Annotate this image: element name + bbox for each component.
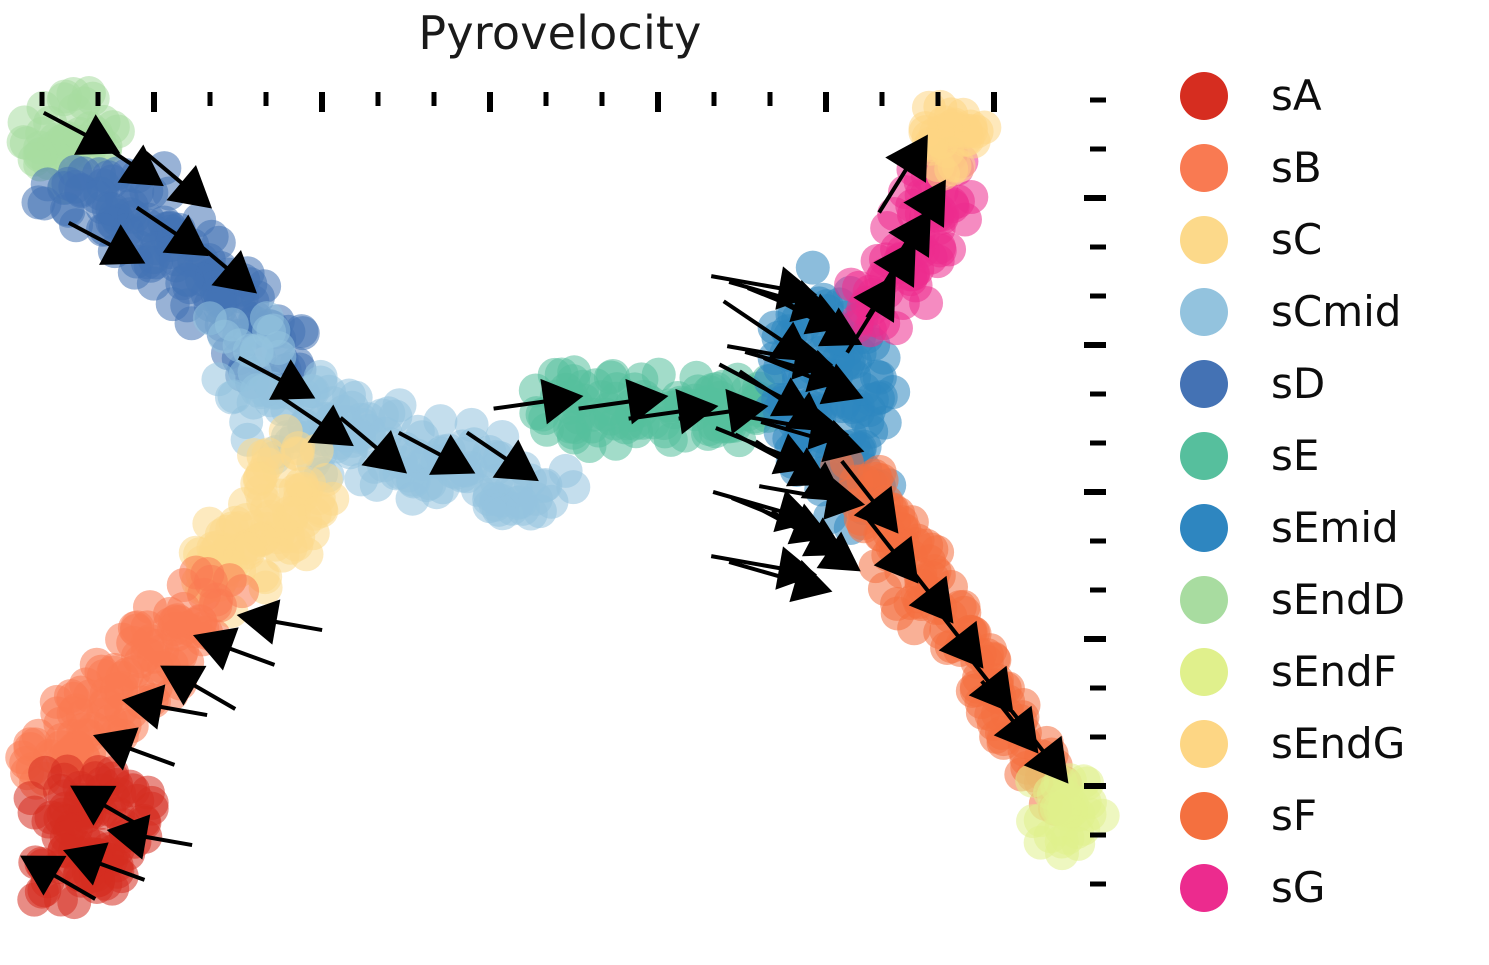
legend-color-swatch-sEndD	[1180, 576, 1228, 624]
legend-color-swatch-sE	[1180, 432, 1228, 480]
legend-color-swatch-sG	[1180, 864, 1228, 912]
legend-color-swatch-sEndG	[1180, 720, 1228, 768]
legend-label: sCmid	[1271, 291, 1401, 333]
axis-ticks	[0, 0, 1120, 965]
legend-item-sEndD[interactable]: sEndD	[1168, 564, 1489, 636]
legend-label: sEndG	[1271, 723, 1405, 765]
legend-label: sD	[1271, 363, 1325, 405]
legend-color-swatch-sC	[1180, 216, 1228, 264]
plot-axes-area	[0, 0, 1120, 965]
legend-color-swatch-sCmid	[1180, 288, 1228, 336]
legend-label: sB	[1271, 147, 1322, 189]
legend-label: sE	[1271, 435, 1319, 477]
legend-item-sEmid[interactable]: sEmid	[1168, 492, 1489, 564]
legend-item-sC[interactable]: sC	[1168, 204, 1489, 276]
legend-item-sA[interactable]: sA	[1168, 60, 1489, 132]
legend-item-sF[interactable]: sF	[1168, 780, 1489, 852]
legend-color-swatch-sF	[1180, 792, 1228, 840]
legend-item-sG[interactable]: sG	[1168, 852, 1489, 924]
legend-color-swatch-sD	[1180, 360, 1228, 408]
legend-label: sA	[1271, 75, 1322, 117]
legend-item-sD[interactable]: sD	[1168, 348, 1489, 420]
legend-label: sC	[1271, 219, 1322, 261]
legend-label: sF	[1271, 795, 1317, 837]
legend-color-swatch-sB	[1180, 144, 1228, 192]
legend-item-sB[interactable]: sB	[1168, 132, 1489, 204]
pyrovelocity-figure: Pyrovelocity sAsBsCsCmidsDsEsEmidsEndDsE…	[0, 0, 1489, 965]
legend-label: sEndF	[1271, 651, 1397, 693]
legend-item-sEndG[interactable]: sEndG	[1168, 708, 1489, 780]
legend-label: sEndD	[1271, 579, 1405, 621]
legend-item-sCmid[interactable]: sCmid	[1168, 276, 1489, 348]
legend-color-swatch-sEmid	[1180, 504, 1228, 552]
legend: sAsBsCsCmidsDsEsEmidsEndDsEndFsEndGsFsG	[1168, 60, 1489, 924]
legend-label: sEmid	[1271, 507, 1399, 549]
legend-color-swatch-sEndF	[1180, 648, 1228, 696]
legend-label: sG	[1271, 867, 1325, 909]
legend-item-sEndF[interactable]: sEndF	[1168, 636, 1489, 708]
legend-color-swatch-sA	[1180, 72, 1228, 120]
legend-item-sE[interactable]: sE	[1168, 420, 1489, 492]
